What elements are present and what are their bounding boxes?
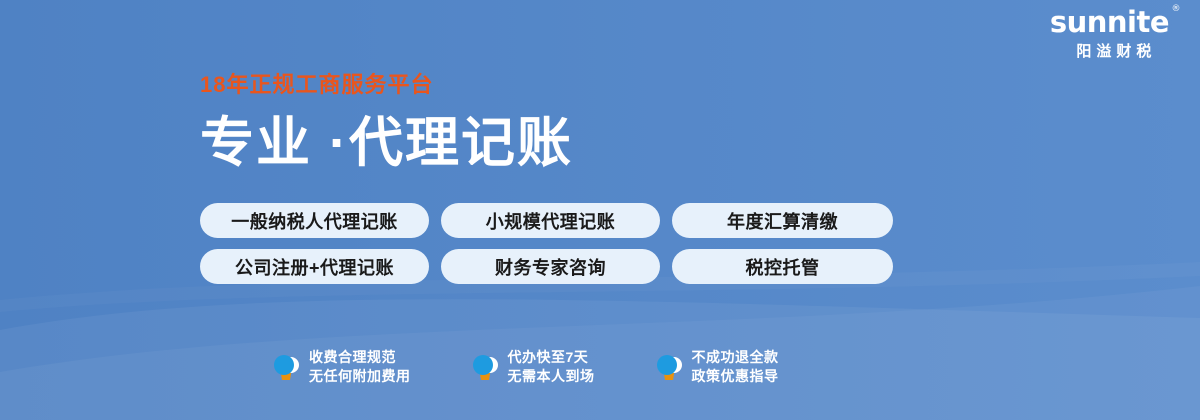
feature-text-pricing: 收费合理规范 无任何附加费用 (309, 350, 411, 383)
feature-line-1: 代办快至7天 (508, 350, 595, 365)
feature-text-speed: 代办快至7天 无需本人到场 (508, 350, 595, 383)
logo-wordmark-text: sunnite (1050, 5, 1169, 39)
service-pill-tax-control-hosting[interactable]: 税控托管 (672, 249, 893, 284)
feature-item-speed: 代办快至7天 无需本人到场 (471, 350, 595, 383)
feature-text-refund: 不成功退全款 政策优惠指导 (692, 350, 779, 383)
circle-crescent-icon (471, 351, 499, 383)
feature-line-2: 无任何附加费用 (309, 369, 411, 384)
circle-crescent-icon (655, 351, 683, 383)
feature-strip: 收费合理规范 无任何附加费用 代办快至7天 无需本人到场 (272, 350, 779, 383)
feature-line-2: 政策优惠指导 (692, 369, 779, 384)
circle-crescent-icon (272, 351, 300, 383)
promo-banner: sunnite ® 阳溢财税 18年正规工商服务平台 专业 ·代理记账 一般纳税… (0, 0, 1200, 420)
service-pill-expert-consulting[interactable]: 财务专家咨询 (441, 249, 660, 284)
service-pill-row: 一般纳税人代理记账 小规模代理记账 年度汇算清缴 (200, 203, 893, 238)
service-pill-small-scale[interactable]: 小规模代理记账 (441, 203, 660, 238)
page-title: 专业 ·代理记账 (200, 116, 573, 170)
eyebrow-text: 18年正规工商服务平台 (200, 74, 573, 96)
registered-trademark-icon: ® (1172, 5, 1181, 14)
service-pill-annual-settlement[interactable]: 年度汇算清缴 (672, 203, 893, 238)
logo-wordmark: sunnite ® (1050, 8, 1178, 37)
service-pill-grid: 一般纳税人代理记账 小规模代理记账 年度汇算清缴 公司注册+代理记账 财务专家咨… (200, 203, 893, 284)
feature-line-1: 不成功退全款 (692, 350, 779, 365)
headline-block: 18年正规工商服务平台 专业 ·代理记账 (200, 74, 573, 170)
service-pill-row: 公司注册+代理记账 财务专家咨询 税控托管 (200, 249, 893, 284)
logo-chinese-name: 阳溢财税 (1050, 44, 1178, 59)
service-pill-general-taxpayer[interactable]: 一般纳税人代理记账 (200, 203, 429, 238)
service-pill-company-registration[interactable]: 公司注册+代理记账 (200, 249, 429, 284)
feature-line-1: 收费合理规范 (309, 350, 411, 365)
feature-item-refund: 不成功退全款 政策优惠指导 (655, 350, 779, 383)
feature-item-pricing: 收费合理规范 无任何附加费用 (272, 350, 411, 383)
feature-line-2: 无需本人到场 (508, 369, 595, 384)
brand-logo[interactable]: sunnite ® 阳溢财税 (1050, 8, 1178, 59)
